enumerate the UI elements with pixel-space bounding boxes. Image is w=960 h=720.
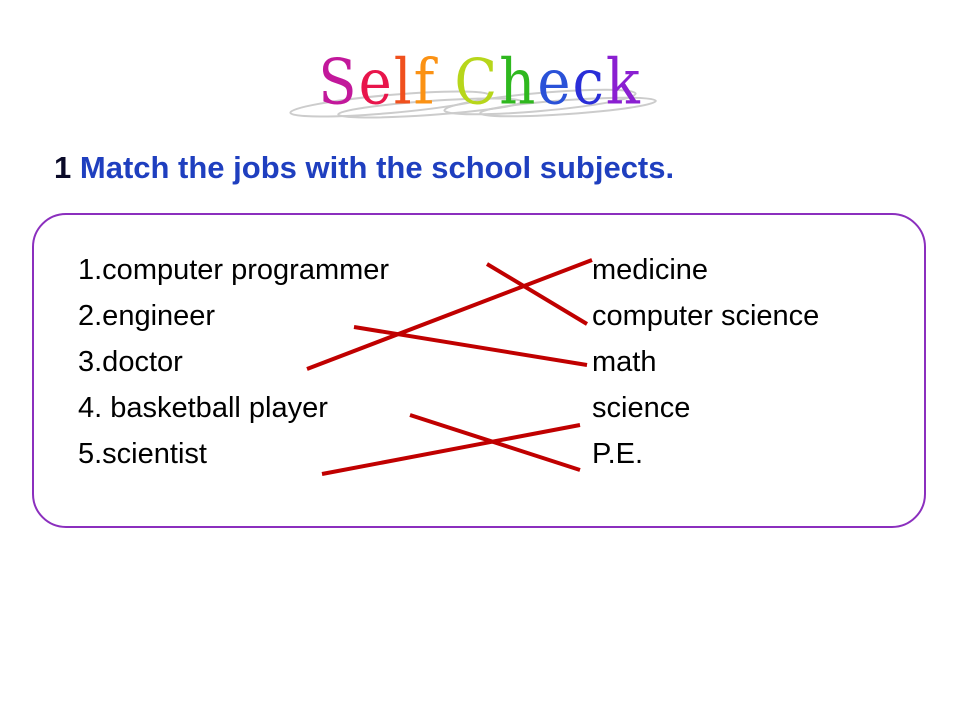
subjects-column: medicine computer science math science P… (592, 247, 819, 477)
title-letter: l (394, 46, 414, 120)
job-item[interactable]: 2.engineer (78, 293, 389, 339)
job-item[interactable]: 1.computer programmer (78, 247, 389, 293)
subject-item[interactable]: P.E. (592, 431, 819, 477)
title-letter: e (359, 46, 394, 120)
title-letter: C (454, 46, 499, 120)
heading-spacer (71, 150, 80, 185)
title-letter: e (537, 46, 572, 120)
title-letter: S (318, 46, 358, 120)
exercise-instruction: Match the jobs with the school subjects. (80, 150, 674, 185)
job-item[interactable]: 5.scientist (78, 431, 389, 477)
subject-item[interactable]: medicine (592, 247, 819, 293)
subject-item[interactable]: math (592, 339, 819, 385)
wordart-title: SelfCheck (0, 52, 960, 132)
connector-line (410, 415, 580, 470)
title-word-check: Check (454, 52, 641, 118)
title-word-self: Self (318, 52, 436, 118)
matching-exercise-panel: 1.computer programmer 2.engineer 3.docto… (32, 213, 926, 528)
connector-line (487, 264, 587, 324)
job-item[interactable]: 4. basketball player (78, 385, 389, 431)
subject-item[interactable]: computer science (592, 293, 819, 339)
subject-item[interactable]: science (592, 385, 819, 431)
jobs-column: 1.computer programmer 2.engineer 3.docto… (78, 247, 389, 477)
exercise-heading: 1 Match the jobs with the school subject… (54, 148, 674, 188)
title-letter: c (572, 46, 605, 120)
title-letter: k (606, 46, 642, 120)
title-letter: h (499, 46, 537, 120)
title-letter: f (414, 46, 437, 120)
job-item[interactable]: 3.doctor (78, 339, 389, 385)
exercise-number: 1 (54, 150, 71, 185)
